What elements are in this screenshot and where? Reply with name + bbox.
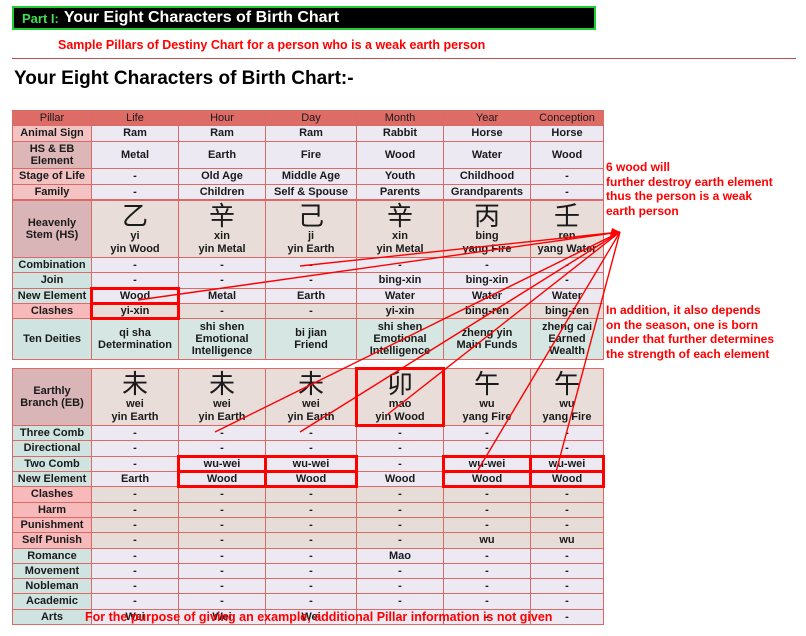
row-label: Animal Sign bbox=[13, 126, 91, 140]
cell-r2-c0: - bbox=[92, 169, 178, 183]
hs-character-0: 乙yiyin Wood bbox=[92, 201, 178, 257]
section-title: Your Eight Characters of Birth Chart:- bbox=[14, 68, 354, 90]
cell-r2-c3: - bbox=[357, 457, 443, 471]
cell-r11-c1: - bbox=[179, 594, 265, 608]
romanization: wei bbox=[181, 398, 263, 410]
heavenly-stem-character-row: HeavenlyStem (HS)乙yiyin Wood辛xinyin Meta… bbox=[13, 201, 603, 257]
cell-r3-c4: bing-ren bbox=[444, 304, 530, 318]
chinese-character: 壬 bbox=[533, 204, 601, 230]
chinese-character: 午 bbox=[446, 372, 528, 398]
cell-r0-c0: - bbox=[92, 258, 178, 272]
cell-r2-c5: Water bbox=[531, 289, 603, 303]
cell-r9-c3: - bbox=[357, 564, 443, 578]
cell-r9-c4: - bbox=[444, 564, 530, 578]
cell-r1-c4: Water bbox=[444, 142, 530, 169]
cell-r2-c2: wu-wei bbox=[266, 457, 356, 471]
romanization: wu bbox=[533, 398, 601, 410]
footnote: For the purpose of giving an example, ad… bbox=[85, 610, 552, 624]
cell-r11-c0: - bbox=[92, 594, 178, 608]
cell-r0-c2: - bbox=[266, 426, 356, 440]
cell-r2-c2: Earth bbox=[266, 289, 356, 303]
eb-character-2: 未weiyin Earth bbox=[266, 369, 356, 425]
cell-r0-c2: Ram bbox=[266, 126, 356, 140]
cell-r0-c5: - bbox=[531, 258, 603, 272]
table-row: Family-ChildrenSelf & SpouseParentsGrand… bbox=[13, 185, 603, 199]
row-label: HS & EBElement bbox=[13, 142, 91, 169]
cell-r10-c0: - bbox=[92, 579, 178, 593]
table-row: Nobleman------ bbox=[13, 579, 603, 593]
table-row: Animal SignRamRamRamRabbitHorseHorse bbox=[13, 126, 603, 140]
cell-r1-c2: - bbox=[266, 273, 356, 287]
eb-character-1: 未weiyin Earth bbox=[179, 369, 265, 425]
row-label: Arts bbox=[13, 610, 91, 624]
cell-r1-c1: - bbox=[179, 273, 265, 287]
cell-r1-c1: Earth bbox=[179, 142, 265, 169]
element-label: yin Wood bbox=[359, 411, 441, 423]
page-banner: Part I: Your Eight Characters of Birth C… bbox=[12, 6, 596, 30]
cell-r4-c0: - bbox=[92, 487, 178, 501]
ten-deity-1: shi shenEmotionalIntelligence bbox=[179, 319, 265, 359]
table-row: New ElementWoodMetalEarthWaterWaterWater bbox=[13, 289, 603, 303]
ten-deity-2: bi jianFriend bbox=[266, 319, 356, 359]
row-label: Combination bbox=[13, 258, 91, 272]
element-label: yin Earth bbox=[94, 411, 176, 423]
romanization: bing bbox=[446, 230, 528, 242]
ten-deity-3: shi shenEmotionalIntelligence bbox=[357, 319, 443, 359]
cell-r0-c0: - bbox=[92, 426, 178, 440]
cell-r1-c4: bing-xin bbox=[444, 273, 530, 287]
hs-character-1: 辛xinyin Metal bbox=[179, 201, 265, 257]
cell-r10-c4: - bbox=[444, 579, 530, 593]
hs-character-5: 壬renyang Water bbox=[531, 201, 603, 257]
column-header-2: Hour bbox=[179, 111, 265, 125]
heavenly-stem-table: HeavenlyStem (HS)乙yiyin Wood辛xinyin Meta… bbox=[12, 200, 604, 360]
row-label: Nobleman bbox=[13, 579, 91, 593]
element-label: yin Metal bbox=[181, 243, 263, 255]
cell-r7-c0: - bbox=[92, 533, 178, 547]
chinese-character: 乙 bbox=[94, 204, 176, 230]
pillar-table: PillarLifeHourDayMonthYearConceptionAnim… bbox=[12, 110, 604, 200]
ten-deity-5: zheng caiEarnedWealth bbox=[531, 319, 603, 359]
row-label: Family bbox=[13, 185, 91, 199]
cell-r1-c0: Metal bbox=[92, 142, 178, 169]
romanization: wu bbox=[446, 398, 528, 410]
column-header-3: Day bbox=[266, 111, 356, 125]
cell-r1-c5: - bbox=[531, 441, 603, 455]
ten-deity-0: qi shaDetermination bbox=[92, 319, 178, 359]
cell-r5-c0: - bbox=[92, 503, 178, 517]
cell-r2-c4: Childhood bbox=[444, 169, 530, 183]
cell-r0-c4: Horse bbox=[444, 126, 530, 140]
cell-r2-c1: Old Age bbox=[179, 169, 265, 183]
row-label: Stage of Life bbox=[13, 169, 91, 183]
cell-r0-c4: - bbox=[444, 426, 530, 440]
cell-r5-c5: - bbox=[531, 503, 603, 517]
cell-r6-c1: - bbox=[179, 518, 265, 532]
cell-r8-c4: - bbox=[444, 549, 530, 563]
cell-r2-c5: wu-wei bbox=[531, 457, 603, 471]
chinese-character: 卯 bbox=[359, 372, 441, 398]
cell-r2-c5: - bbox=[531, 169, 603, 183]
row-label: Clashes bbox=[13, 487, 91, 501]
cell-r3-c3: Parents bbox=[357, 185, 443, 199]
cell-r5-c4: - bbox=[444, 503, 530, 517]
table-row: Movement------ bbox=[13, 564, 603, 578]
cell-r3-c3: yi-xin bbox=[357, 304, 443, 318]
cell-r6-c3: - bbox=[357, 518, 443, 532]
cell-r10-c2: - bbox=[266, 579, 356, 593]
cell-r0-c3: Rabbit bbox=[357, 126, 443, 140]
eb-character-4: 午wuyang Fire bbox=[444, 369, 530, 425]
eb-character-0: 未weiyin Earth bbox=[92, 369, 178, 425]
row-label: Punishment bbox=[13, 518, 91, 532]
chinese-character: 辛 bbox=[359, 204, 441, 230]
cell-r9-c5: - bbox=[531, 564, 603, 578]
table-row: Stage of Life-Old AgeMiddle AgeYouthChil… bbox=[13, 169, 603, 183]
cell-r7-c2: - bbox=[266, 533, 356, 547]
hs-character-4: 丙bingyang Fire bbox=[444, 201, 530, 257]
earthly-branch-character-row: EarthlyBranch (EB)未weiyin Earth未weiyin E… bbox=[13, 369, 603, 425]
element-label: yin Earth bbox=[181, 411, 263, 423]
cell-r8-c3: Mao bbox=[357, 549, 443, 563]
cell-r6-c4: - bbox=[444, 518, 530, 532]
cell-r1-c3: Wood bbox=[357, 142, 443, 169]
row-label: Romance bbox=[13, 549, 91, 563]
element-label: yin Earth bbox=[268, 411, 354, 423]
row-label: Self Punish bbox=[13, 533, 91, 547]
element-label: yang Fire bbox=[446, 411, 528, 423]
chinese-character: 午 bbox=[533, 372, 601, 398]
table-row: Clashes------ bbox=[13, 487, 603, 501]
cell-r10-c3: - bbox=[357, 579, 443, 593]
eb-character-3: 卯maoyin Wood bbox=[357, 369, 443, 425]
ten-deities-row: Ten Deitiesqi shaDeterminationshi shenEm… bbox=[13, 319, 603, 359]
cell-r6-c0: - bbox=[92, 518, 178, 532]
table-row: Combination------ bbox=[13, 258, 603, 272]
cell-r1-c3: - bbox=[357, 441, 443, 455]
row-label: Clashes bbox=[13, 304, 91, 318]
chinese-character: 未 bbox=[181, 372, 263, 398]
cell-r8-c5: - bbox=[531, 549, 603, 563]
column-header-4: Month bbox=[357, 111, 443, 125]
cell-r7-c3: - bbox=[357, 533, 443, 547]
heavenly-stem-label: HeavenlyStem (HS) bbox=[13, 201, 91, 257]
cell-r5-c2: - bbox=[266, 503, 356, 517]
cell-r0-c1: - bbox=[179, 258, 265, 272]
cell-r1-c5: Wood bbox=[531, 142, 603, 169]
ten-deity-4: zheng yinMain Funds bbox=[444, 319, 530, 359]
cell-r2-c1: wu-wei bbox=[179, 457, 265, 471]
column-header-0: Pillar bbox=[13, 111, 91, 125]
cell-r7-c1: - bbox=[179, 533, 265, 547]
cell-r2-c0: - bbox=[92, 457, 178, 471]
column-header-1: Life bbox=[92, 111, 178, 125]
cell-r2-c4: Water bbox=[444, 289, 530, 303]
cell-r1-c5: - bbox=[531, 273, 603, 287]
column-header-6: Conception bbox=[531, 111, 603, 125]
cell-r3-c0: Earth bbox=[92, 472, 178, 486]
element-label: yang Fire bbox=[446, 243, 528, 255]
element-label: yin Metal bbox=[359, 243, 441, 255]
horizontal-rule bbox=[12, 58, 796, 59]
row-label: Join bbox=[13, 273, 91, 287]
cell-r0-c3: - bbox=[357, 258, 443, 272]
cell-r4-c3: - bbox=[357, 487, 443, 501]
table-row: Self Punish----wuwu bbox=[13, 533, 603, 547]
earthly-branch-table: EarthlyBranch (EB)未weiyin Earth未weiyin E… bbox=[12, 368, 604, 625]
cell-r1-c1: - bbox=[179, 441, 265, 455]
cell-r2-c2: Middle Age bbox=[266, 169, 356, 183]
element-label: yang Fire bbox=[533, 411, 601, 423]
hs-character-2: 己jiyin Earth bbox=[266, 201, 356, 257]
cell-r0-c1: - bbox=[179, 426, 265, 440]
cell-r5-c1: - bbox=[179, 503, 265, 517]
cell-r11-c4: - bbox=[444, 594, 530, 608]
cell-r1-c4: - bbox=[444, 441, 530, 455]
cell-r4-c1: - bbox=[179, 487, 265, 501]
chinese-character: 丙 bbox=[446, 204, 528, 230]
annotation-weak-earth: 6 wood will further destroy earth elemen… bbox=[606, 160, 773, 219]
cell-r2-c0: Wood bbox=[92, 289, 178, 303]
earthly-branch-label: EarthlyBranch (EB) bbox=[13, 369, 91, 425]
cell-r7-c4: wu bbox=[444, 533, 530, 547]
cell-r0-c0: Ram bbox=[92, 126, 178, 140]
cell-r10-c5: - bbox=[531, 579, 603, 593]
cell-r0-c1: Ram bbox=[179, 126, 265, 140]
table-row: Clashesyi-xin--yi-xinbing-renbing-ren bbox=[13, 304, 603, 318]
row-label: Harm bbox=[13, 503, 91, 517]
cell-r3-c5: bing-ren bbox=[531, 304, 603, 318]
cell-r3-c0: - bbox=[92, 185, 178, 199]
cell-r10-c1: - bbox=[179, 579, 265, 593]
row-label: New Element bbox=[13, 472, 91, 486]
table-row: Two Comb-wu-weiwu-wei-wu-weiwu-wei bbox=[13, 457, 603, 471]
cell-r6-c5: - bbox=[531, 518, 603, 532]
romanization: wei bbox=[268, 398, 354, 410]
row-label: Three Comb bbox=[13, 426, 91, 440]
cell-r4-c4: - bbox=[444, 487, 530, 501]
chinese-character: 未 bbox=[94, 372, 176, 398]
cell-r8-c1: - bbox=[179, 549, 265, 563]
cell-r3-c4: Wood bbox=[444, 472, 530, 486]
cell-r3-c4: Grandparents bbox=[444, 185, 530, 199]
annotation-season: In addition, it also depends on the seas… bbox=[606, 303, 774, 362]
cell-r6-c2: - bbox=[266, 518, 356, 532]
cell-r9-c2: - bbox=[266, 564, 356, 578]
element-label: yang Water bbox=[533, 243, 601, 255]
cell-r1-c2: Fire bbox=[266, 142, 356, 169]
cell-r2-c3: Water bbox=[357, 289, 443, 303]
cell-r11-c3: - bbox=[357, 594, 443, 608]
cell-r3-c2: - bbox=[266, 304, 356, 318]
cell-r9-c1: - bbox=[179, 564, 265, 578]
cell-r3-c2: Wood bbox=[266, 472, 356, 486]
cell-r1-c0: - bbox=[92, 273, 178, 287]
cell-r9-c0: - bbox=[92, 564, 178, 578]
pillar-table-header-row: PillarLifeHourDayMonthYearConception bbox=[13, 111, 603, 125]
row-label: Movement bbox=[13, 564, 91, 578]
cell-r11-c2: - bbox=[266, 594, 356, 608]
cell-r4-c2: - bbox=[266, 487, 356, 501]
banner-part-label: Part I: bbox=[22, 11, 59, 26]
cell-r3-c3: Wood bbox=[357, 472, 443, 486]
cell-r3-c0: yi-xin bbox=[92, 304, 178, 318]
hs-character-3: 辛xinyin Metal bbox=[357, 201, 443, 257]
cell-r2-c1: Metal bbox=[179, 289, 265, 303]
banner-title: Your Eight Characters of Birth Chart bbox=[64, 9, 339, 27]
cell-r3-c5: - bbox=[531, 185, 603, 199]
table-row: Romance---Mao-- bbox=[13, 549, 603, 563]
table-row: Harm------ bbox=[13, 503, 603, 517]
romanization: xin bbox=[181, 230, 263, 242]
page-subtitle: Sample Pillars of Destiny Chart for a pe… bbox=[58, 38, 485, 52]
cell-r3-c1: Children bbox=[179, 185, 265, 199]
cell-r2-c3: Youth bbox=[357, 169, 443, 183]
eb-character-5: 午wuyang Fire bbox=[531, 369, 603, 425]
chinese-character: 辛 bbox=[181, 204, 263, 230]
table-row: HS & EBElementMetalEarthFireWoodWaterWoo… bbox=[13, 142, 603, 169]
cell-r2-c4: wu-wei bbox=[444, 457, 530, 471]
cell-r0-c2: - bbox=[266, 258, 356, 272]
cell-r8-c2: - bbox=[266, 549, 356, 563]
cell-r8-c0: - bbox=[92, 549, 178, 563]
row-label: Directional bbox=[13, 441, 91, 455]
table-row: New ElementEarthWoodWoodWoodWoodWood bbox=[13, 472, 603, 486]
cell-r3-c5: Wood bbox=[531, 472, 603, 486]
romanization: wei bbox=[94, 398, 176, 410]
element-label: yin Wood bbox=[94, 243, 176, 255]
cell-r3-c1: Wood bbox=[179, 472, 265, 486]
chinese-character: 己 bbox=[268, 204, 354, 230]
cell-r4-c5: - bbox=[531, 487, 603, 501]
romanization: ren bbox=[533, 230, 601, 242]
cell-r11-c5: - bbox=[531, 594, 603, 608]
row-label: Two Comb bbox=[13, 457, 91, 471]
table-row: Academic------ bbox=[13, 594, 603, 608]
element-label: yin Earth bbox=[268, 243, 354, 255]
cell-r1-c2: - bbox=[266, 441, 356, 455]
cell-r1-c0: - bbox=[92, 441, 178, 455]
cell-r3-c2: Self & Spouse bbox=[266, 185, 356, 199]
cell-r0-c4: - bbox=[444, 258, 530, 272]
table-row: Directional------ bbox=[13, 441, 603, 455]
romanization: xin bbox=[359, 230, 441, 242]
table-row: Punishment------ bbox=[13, 518, 603, 532]
row-label: Academic bbox=[13, 594, 91, 608]
cell-r0-c5: - bbox=[531, 426, 603, 440]
romanization: ji bbox=[268, 230, 354, 242]
cell-r0-c5: Horse bbox=[531, 126, 603, 140]
row-label: New Element bbox=[13, 289, 91, 303]
table-row: Three Comb------ bbox=[13, 426, 603, 440]
romanization: yi bbox=[94, 230, 176, 242]
column-header-5: Year bbox=[444, 111, 530, 125]
cell-r3-c1: - bbox=[179, 304, 265, 318]
cell-r0-c3: - bbox=[357, 426, 443, 440]
cell-r1-c3: bing-xin bbox=[357, 273, 443, 287]
romanization: mao bbox=[359, 398, 441, 410]
cell-r5-c3: - bbox=[357, 503, 443, 517]
table-row: Join---bing-xinbing-xin- bbox=[13, 273, 603, 287]
row-label: Ten Deities bbox=[13, 319, 91, 359]
cell-r7-c5: wu bbox=[531, 533, 603, 547]
chinese-character: 未 bbox=[268, 372, 354, 398]
